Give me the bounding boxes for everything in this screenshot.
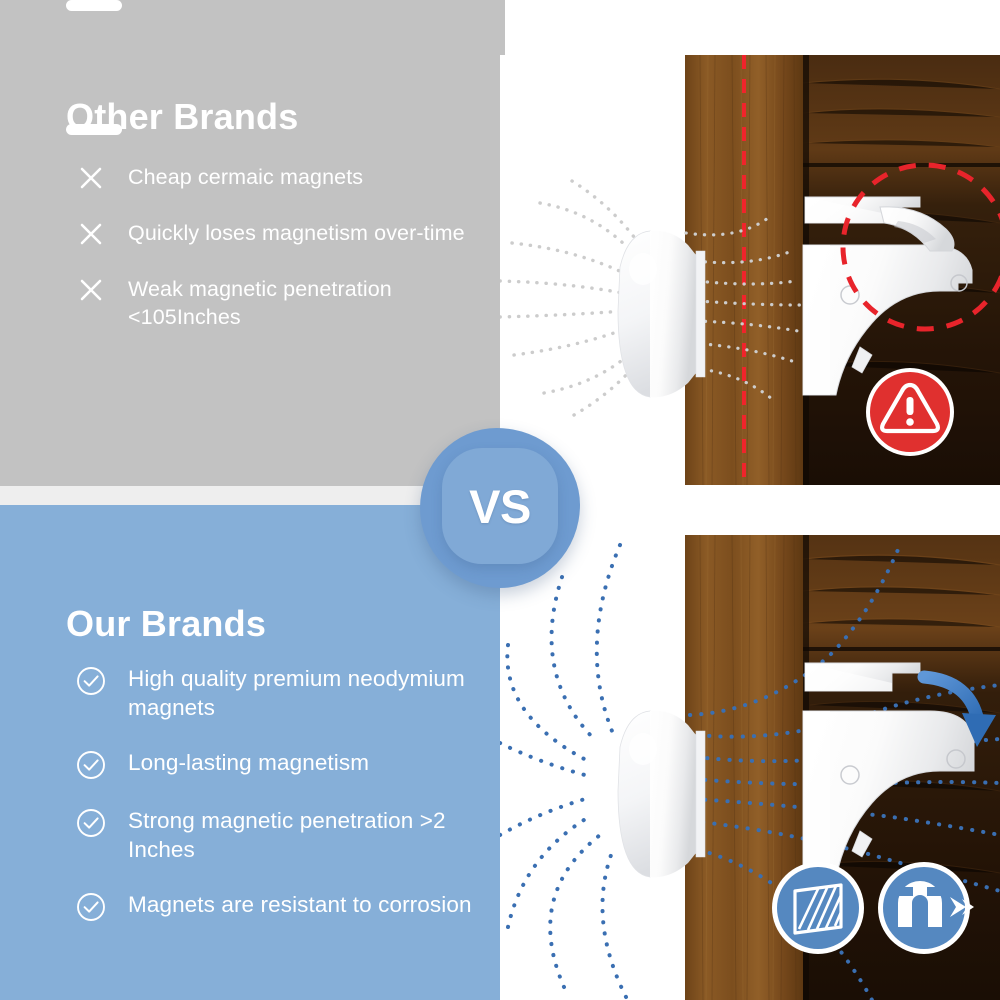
list-item: Magnets are resistant to corrosion <box>0 890 505 922</box>
other-brands-title-rule <box>66 124 122 135</box>
our-brands-product-photo <box>500 535 1000 1000</box>
vs-badge-label: VS <box>469 483 531 530</box>
x-icon <box>68 163 114 191</box>
warning-triangle-icon <box>866 368 954 456</box>
check-icon <box>68 890 114 922</box>
list-item-label: High quality premium neodymium magnets <box>128 664 473 722</box>
list-item: Cheap cermaic magnets <box>0 163 505 191</box>
other-brands-feature-list: Cheap cermaic magnets Quickly loses magn… <box>0 163 505 359</box>
x-icon <box>68 219 114 247</box>
other-brands-product-photo <box>500 55 1000 485</box>
vs-badge: VS <box>420 428 580 588</box>
our-brands-feature-list: High quality premium neodymium magnets L… <box>0 664 505 948</box>
check-icon <box>68 748 114 780</box>
infographic-canvas: Other Brands Cheap cermaic magnets Quick… <box>0 0 1000 1000</box>
check-icon <box>68 664 114 696</box>
list-item-label: Strong magnetic penetration >2 Inches <box>128 806 473 864</box>
white-cone-magnet-key <box>618 711 705 877</box>
panel-hatch-icon <box>772 862 864 954</box>
x-icon <box>68 275 114 303</box>
white-cone-magnet-key <box>618 231 705 397</box>
list-item-label: Magnets are resistant to corrosion <box>128 890 472 919</box>
list-item: Quickly loses magnetism over-time <box>0 219 505 247</box>
check-icon <box>68 806 114 838</box>
list-item-label: Quickly loses magnetism over-time <box>128 219 465 247</box>
our-brands-title-rule <box>66 0 122 11</box>
list-item: Strong magnetic penetration >2 Inches <box>0 806 505 864</box>
list-item: High quality premium neodymium magnets <box>0 664 505 722</box>
list-item-label: Cheap cermaic magnets <box>128 163 363 191</box>
list-item-label: Weak magnetic penetration <105Inches <box>128 275 473 331</box>
list-item-label: Long-lasting magnetism <box>128 748 369 777</box>
our-brands-title: Our Brands <box>66 603 266 645</box>
list-item: Weak magnetic penetration <105Inches <box>0 275 505 331</box>
list-item: Long-lasting magnetism <box>0 748 505 780</box>
vs-badge-inner: VS <box>442 448 558 564</box>
